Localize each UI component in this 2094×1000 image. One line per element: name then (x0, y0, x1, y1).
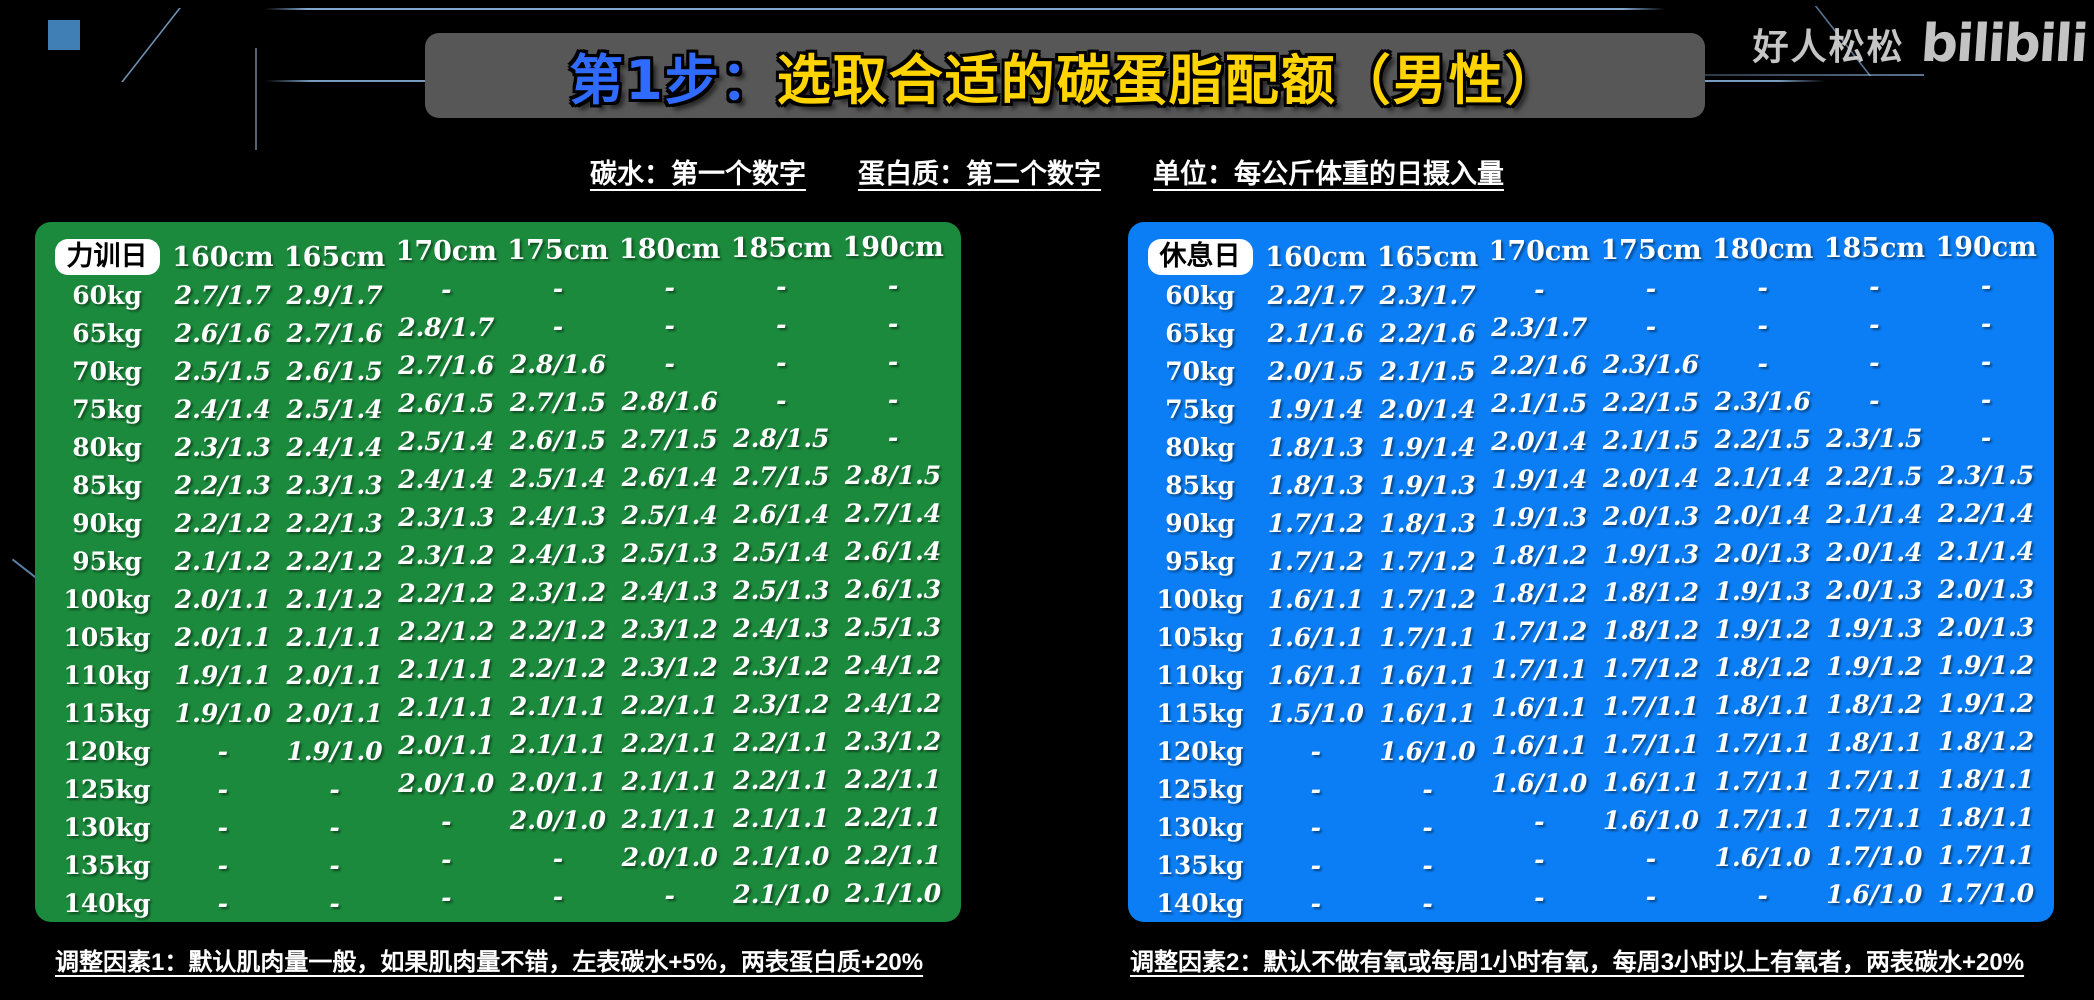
row-header-weight: 60kg (1140, 276, 1260, 314)
table-cell: - (837, 266, 949, 304)
table-cell: 1.8/1.2 (1930, 722, 2042, 760)
table-cell: 2.3/1.3 (390, 498, 502, 536)
table-cell: 2.4/1.3 (502, 535, 614, 573)
table-cell: - (1819, 267, 1931, 305)
row-header-weight: 135kg (47, 846, 167, 884)
table-cell: 2.7/1.5 (614, 420, 726, 458)
table-cell: 1.9/1.3 (1707, 572, 1819, 610)
table-cell: 2.8/1.6 (614, 382, 726, 420)
footnote-adjustment-2: 调整因素2：默认不做有氧或每周1小时有氧，每周3小时以上有氧者，两表碳水+20% (1130, 942, 2024, 977)
table-cell: 2.0/1.1 (502, 763, 614, 801)
table-cell: 2.2/1.2 (390, 612, 502, 650)
table-cell: 2.7/1.5 (502, 383, 614, 421)
table-cell: - (390, 878, 502, 916)
table-cell: 2.2/1.3 (279, 504, 391, 542)
row-header-weight: 130kg (1140, 808, 1260, 846)
table-cell: - (1372, 846, 1484, 884)
row-header-weight: 65kg (1140, 314, 1260, 352)
row-header-weight: 80kg (47, 428, 167, 466)
table-cell: - (1483, 270, 1595, 308)
table-cell: 2.3/1.5 (1819, 419, 1931, 457)
table-cell: 1.6/1.1 (1483, 688, 1595, 726)
table-cell: 2.6/1.4 (726, 495, 838, 533)
table-cell: 2.0/1.4 (1483, 422, 1595, 460)
table-cell: - (390, 840, 502, 878)
title-step: 第1步： (569, 49, 777, 112)
row-header-weight: 95kg (1140, 542, 1260, 580)
table-cell: - (1707, 344, 1819, 382)
table-cell: 2.2/1.6 (1483, 346, 1595, 384)
training-day-panel: 力训日 160cm 165cm 170cm 175cm 180cm 185cm … (35, 222, 961, 922)
row-header-weight: 120kg (47, 732, 167, 770)
training-day-body: 60kg2.7/1.72.9/1.7-----65kg2.6/1.62.7/1.… (47, 276, 949, 922)
col-header-170cm: 170cm (1483, 232, 1595, 270)
table-cell: - (279, 770, 391, 808)
table-cell: - (167, 846, 279, 884)
table-cell: 1.7/1.0 (1930, 874, 2042, 912)
table-cell: - (1930, 266, 2042, 304)
legend-unit: 单位：每公斤体重的日摄入量 (1153, 152, 1504, 191)
footnote-adjustment-1: 调整因素1：默认肌肉量一般，如果肌肉量不错，左表碳水+5%，两表蛋白质+20% (55, 942, 923, 977)
table-cell: 1.9/1.2 (1707, 610, 1819, 648)
table-cell: 2.1/1.1 (390, 688, 502, 726)
row-header-weight: 110kg (47, 656, 167, 694)
table-cell: 1.8/1.2 (1483, 574, 1595, 612)
table-cell: 2.2/1.1 (726, 761, 838, 799)
table-cell: 2.1/1.4 (1819, 495, 1931, 533)
table-cell: 2.1/1.2 (279, 580, 391, 618)
table-cell: 2.5/1.4 (279, 390, 391, 428)
table-cell: 1.7/1.1 (1930, 836, 2042, 874)
table-cell: - (167, 884, 279, 922)
table-cell: 2.4/1.2 (837, 684, 949, 722)
table-cell: 1.7/1.1 (1372, 618, 1484, 656)
row-header-weight: 130kg (47, 808, 167, 846)
row-header-weight: 115kg (1140, 694, 1260, 732)
training-day-table: 力训日 160cm 165cm 170cm 175cm 180cm 185cm … (47, 238, 949, 922)
table-cell: 1.9/1.3 (1819, 609, 1931, 647)
table-cell: 2.0/1.0 (614, 838, 726, 876)
table-cell: 1.8/1.2 (1819, 685, 1931, 723)
table-cell: 2.3/1.2 (837, 722, 949, 760)
table-cell: 2.0/1.4 (1819, 533, 1931, 571)
bilibili-logo-icon: bilibili (1919, 14, 2089, 74)
col-header-170cm: 170cm (390, 232, 502, 270)
table-cell: - (167, 808, 279, 846)
table-cell: - (614, 268, 726, 306)
title-body: 选取合适的碳蛋脂配额（男性） (777, 49, 1561, 112)
table-cell: - (279, 884, 391, 922)
table-cell: 2.5/1.3 (614, 534, 726, 572)
row-header-weight: 120kg (1140, 732, 1260, 770)
table-cell: 1.7/1.2 (1372, 580, 1484, 618)
table-cell: 1.7/1.1 (1707, 724, 1819, 762)
table-cell: 1.9/1.2 (1819, 647, 1931, 685)
row-header-weight: 140kg (1140, 884, 1260, 922)
table-cell: 1.8/1.1 (1930, 798, 2042, 836)
table-cell: 2.7/1.6 (279, 314, 391, 352)
col-header-180cm: 180cm (614, 230, 726, 268)
table-cell: 1.9/1.2 (1930, 684, 2042, 722)
table-cell: 1.7/1.1 (1819, 799, 1931, 837)
table-cell: 2.2/1.6 (1372, 314, 1484, 352)
table-cell: 1.6/1.1 (1372, 656, 1484, 694)
row-header-weight: 100kg (1140, 580, 1260, 618)
table-cell: 2.0/1.3 (1930, 570, 2042, 608)
table-cell: 2.8/1.6 (502, 345, 614, 383)
table-cell: 2.7/1.7 (167, 276, 279, 314)
row-header-weight: 125kg (1140, 770, 1260, 808)
table-cell: 2.1/1.1 (726, 799, 838, 837)
table-cell: 1.8/1.1 (1819, 723, 1931, 761)
col-header-175cm: 175cm (1595, 231, 1707, 269)
table-cell: 1.9/1.3 (1595, 535, 1707, 573)
table-cell: 2.2/1.4 (1930, 494, 2042, 532)
table-cell: 2.5/1.4 (502, 459, 614, 497)
table-cell: 2.6/1.5 (279, 352, 391, 390)
table-cell: - (167, 770, 279, 808)
table-cell: - (1930, 342, 2042, 380)
table-cell: - (279, 846, 391, 884)
table-cell: 2.8/1.5 (726, 419, 838, 457)
col-header-165cm: 165cm (279, 238, 391, 276)
table-cell: - (1260, 846, 1372, 884)
table-cell: 2.0/1.3 (1930, 608, 2042, 646)
table-cell: - (279, 808, 391, 846)
table-cell: 2.3/1.5 (1930, 456, 2042, 494)
row-header-weight: 70kg (47, 352, 167, 390)
table-cell: 1.6/1.1 (1260, 656, 1372, 694)
table-cell: 2.7/1.6 (390, 346, 502, 384)
table-cell: 1.6/1.0 (1819, 875, 1931, 913)
table-cell: 2.2/1.1 (726, 723, 838, 761)
row-header-weight: 70kg (1140, 352, 1260, 390)
table-cell: 1.8/1.3 (1372, 504, 1484, 542)
table-cell: 2.3/1.6 (1707, 382, 1819, 420)
row-header-weight: 75kg (1140, 390, 1260, 428)
table-cell: 1.8/1.3 (1260, 466, 1372, 504)
table-cell: 2.1/1.1 (502, 687, 614, 725)
table-cell: 1.6/1.0 (1707, 838, 1819, 876)
table-cell: 2.2/1.5 (1707, 420, 1819, 458)
table-cell: - (502, 307, 614, 345)
table-cell: 2.3/1.2 (502, 573, 614, 611)
table-cell: - (1819, 305, 1931, 343)
table-cell: 2.0/1.0 (502, 801, 614, 839)
table-cell: 2.4/1.4 (167, 390, 279, 428)
rest-day-body: 60kg2.2/1.72.3/1.7-----65kg2.1/1.62.2/1.… (1140, 276, 2042, 922)
table-cell: 2.0/1.1 (279, 656, 391, 694)
training-day-badge: 力训日 (47, 238, 167, 276)
row-header-weight: 100kg (47, 580, 167, 618)
table-cell: 2.6/1.3 (837, 570, 949, 608)
table-cell: 1.7/1.2 (1260, 542, 1372, 580)
table-cell: 2.1/1.0 (726, 875, 838, 913)
table-cell: 1.9/1.3 (1372, 466, 1484, 504)
table-cell: - (837, 342, 949, 380)
table-cell: 1.6/1.0 (1372, 732, 1484, 770)
table-cell: - (837, 380, 949, 418)
col-header-190cm: 190cm (837, 228, 949, 266)
table-cell: 1.8/1.1 (1930, 760, 2042, 798)
table-cell: - (1483, 840, 1595, 878)
table-cell: - (1372, 884, 1484, 922)
table-cell: 2.1/1.5 (1483, 384, 1595, 422)
table-cell: 2.2/1.1 (614, 686, 726, 724)
table-cell: 2.5/1.3 (837, 608, 949, 646)
training-day-label: 力训日 (55, 239, 160, 275)
table-cell: 1.6/1.0 (1595, 801, 1707, 839)
table-cell: 1.7/1.2 (1483, 612, 1595, 650)
table-cell: 2.4/1.4 (390, 460, 502, 498)
col-header-175cm: 175cm (502, 231, 614, 269)
table-cell: 2.8/1.5 (837, 456, 949, 494)
slide-root: 好人松松 bilibili 第1步：选取合适的碳蛋脂配额（男性） 碳水：第一个数… (0, 0, 2094, 1000)
table-cell: 2.2/1.2 (502, 611, 614, 649)
watermark: 好人松松 bilibili (1753, 14, 2086, 74)
row-header-weight: 110kg (1140, 656, 1260, 694)
table-cell: - (614, 306, 726, 344)
table-cell: 1.9/1.0 (279, 732, 391, 770)
table-cell: 2.3/1.6 (1595, 345, 1707, 383)
table-row: 140kg-----2.1/1.02.1/1.0 (47, 884, 949, 922)
table-cell: 2.5/1.4 (726, 533, 838, 571)
row-header-weight: 140kg (47, 884, 167, 922)
table-cell: 2.0/1.1 (390, 726, 502, 764)
table-cell: 1.7/1.1 (1707, 762, 1819, 800)
table-cell: 1.6/1.1 (1595, 763, 1707, 801)
table-cell: 2.6/1.5 (390, 384, 502, 422)
table-row: 140kg-----1.6/1.01.7/1.0 (1140, 884, 2042, 922)
row-header-weight: 105kg (1140, 618, 1260, 656)
table-cell: 2.1/1.4 (1930, 532, 2042, 570)
row-header-weight: 60kg (47, 276, 167, 314)
page-title: 第1步：选取合适的碳蛋脂配额（男性） (569, 36, 1561, 115)
table-cell: 1.6/1.1 (1260, 580, 1372, 618)
table-cell: 2.6/1.4 (614, 458, 726, 496)
table-cell: - (726, 381, 838, 419)
table-cell: 2.2/1.2 (390, 574, 502, 612)
row-header-weight: 85kg (1140, 466, 1260, 504)
table-cell: 2.5/1.4 (614, 496, 726, 534)
legend-row: 碳水：第一个数字 蛋白质：第二个数字 单位：每公斤体重的日摄入量 (0, 152, 2094, 191)
col-header-165cm: 165cm (1372, 238, 1484, 276)
table-cell: - (390, 270, 502, 308)
rest-day-label: 休息日 (1148, 239, 1253, 275)
col-header-185cm: 185cm (726, 229, 838, 267)
table-cell: 1.7/1.1 (1595, 725, 1707, 763)
table-cell: - (837, 304, 949, 342)
col-header-180cm: 180cm (1707, 230, 1819, 268)
table-cell: 2.2/1.1 (837, 798, 949, 836)
table-cell: - (1372, 770, 1484, 808)
table-cell: 2.7/1.5 (726, 457, 838, 495)
table-cell: - (502, 839, 614, 877)
table-cell: 1.8/1.2 (1707, 648, 1819, 686)
table-cell: - (1707, 306, 1819, 344)
table-cell: 2.3/1.2 (390, 536, 502, 574)
table-cell: 2.0/1.4 (1595, 459, 1707, 497)
table-cell: - (1595, 307, 1707, 345)
table-cell: - (1483, 802, 1595, 840)
table-cell: 2.0/1.1 (167, 618, 279, 656)
table-cell: 2.4/1.4 (279, 428, 391, 466)
table-cell: 2.2/1.2 (167, 504, 279, 542)
table-cell: 2.1/1.1 (502, 725, 614, 763)
table-cell: 2.2/1.1 (837, 836, 949, 874)
table-cell: - (614, 344, 726, 382)
hud-top-line-1 (265, 8, 1665, 10)
col-header-190cm: 190cm (1930, 228, 2042, 266)
table-cell: 1.6/1.1 (1260, 618, 1372, 656)
row-header-weight: 95kg (47, 542, 167, 580)
table-cell: 2.3/1.3 (279, 466, 391, 504)
table-cell: 2.7/1.4 (837, 494, 949, 532)
table-cell: 2.2/1.1 (614, 724, 726, 762)
table-cell: - (1819, 343, 1931, 381)
table-cell: 2.4/1.3 (726, 609, 838, 647)
table-cell: 2.2/1.2 (502, 649, 614, 687)
rest-day-panel: 休息日 160cm 165cm 170cm 175cm 180cm 185cm … (1128, 222, 2054, 922)
table-cell: 2.5/1.5 (167, 352, 279, 390)
table-cell: 2.3/1.3 (167, 428, 279, 466)
table-cell: - (614, 876, 726, 914)
col-header-160cm: 160cm (167, 238, 279, 276)
table-cell: 1.9/1.4 (1260, 390, 1372, 428)
table-cell: 2.1/1.1 (614, 762, 726, 800)
table-cell: - (1930, 304, 2042, 342)
row-header-weight: 75kg (47, 390, 167, 428)
table-cell: 2.1/1.0 (837, 874, 949, 912)
table-cell: - (837, 418, 949, 456)
table-cell: 2.0/1.3 (1819, 571, 1931, 609)
title-banner: 第1步：选取合适的碳蛋脂配额（男性） (425, 33, 1705, 118)
table-cell: - (1260, 808, 1372, 846)
table-cell: 1.9/1.4 (1483, 460, 1595, 498)
table-cell: 1.6/1.0 (1483, 764, 1595, 802)
table-cell: 2.0/1.3 (1595, 497, 1707, 535)
rest-day-table: 休息日 160cm 165cm 170cm 175cm 180cm 185cm … (1140, 238, 2042, 922)
table-cell: - (1930, 418, 2042, 456)
table-cell: - (1372, 808, 1484, 846)
table-cell: - (1819, 381, 1931, 419)
row-header-weight: 65kg (47, 314, 167, 352)
row-header-weight: 80kg (1140, 428, 1260, 466)
col-header-160cm: 160cm (1260, 238, 1372, 276)
table-cell: 2.8/1.7 (390, 308, 502, 346)
hud-square-decoration (48, 20, 80, 50)
table-cell: 2.0/1.4 (1707, 496, 1819, 534)
table-cell: 1.8/1.3 (1260, 428, 1372, 466)
table-cell: - (726, 343, 838, 381)
table-cell: 2.0/1.3 (1707, 534, 1819, 572)
table-cell: 2.3/1.2 (614, 610, 726, 648)
table-cell: 1.9/1.0 (167, 694, 279, 732)
table-cell: 2.0/1.0 (390, 764, 502, 802)
table-cell: 1.7/1.1 (1707, 800, 1819, 838)
table-cell: 1.6/1.1 (1483, 726, 1595, 764)
table-cell: 1.9/1.2 (1930, 646, 2042, 684)
col-header-185cm: 185cm (1819, 229, 1931, 267)
table-cell: 2.3/1.7 (1483, 308, 1595, 346)
table-cell: 1.7/1.1 (1483, 650, 1595, 688)
table-cell: - (1707, 268, 1819, 306)
table-cell: 2.1/1.0 (726, 837, 838, 875)
table-cell: 2.2/1.7 (1260, 276, 1372, 314)
table-cell: - (726, 267, 838, 305)
table-cell: 2.5/1.3 (726, 571, 838, 609)
hud-diagonal-left (121, 8, 299, 82)
row-header-weight: 115kg (47, 694, 167, 732)
rest-day-badge: 休息日 (1140, 238, 1260, 276)
table-cell: 2.1/1.1 (390, 650, 502, 688)
table-cell: 2.3/1.2 (614, 648, 726, 686)
table-cell: - (1260, 732, 1372, 770)
table-cell: 2.5/1.4 (390, 422, 502, 460)
row-header-weight: 105kg (47, 618, 167, 656)
table-cell: - (167, 732, 279, 770)
table-cell: 2.1/1.1 (614, 800, 726, 838)
table-cell: 2.2/1.5 (1819, 457, 1931, 495)
table-cell: - (1707, 876, 1819, 914)
table-cell: 2.0/1.1 (167, 580, 279, 618)
table-cell: 2.0/1.1 (279, 694, 391, 732)
table-cell: 2.1/1.6 (1260, 314, 1372, 352)
table-cell: 2.2/1.5 (1595, 383, 1707, 421)
table-cell: - (1595, 269, 1707, 307)
legend-carbs: 碳水：第一个数字 (590, 152, 806, 191)
table-cell: - (502, 269, 614, 307)
table-cell: 2.6/1.6 (167, 314, 279, 352)
table-cell: - (502, 877, 614, 915)
table-cell: 2.9/1.7 (279, 276, 391, 314)
table-cell: 1.7/1.1 (1819, 761, 1931, 799)
table-cell: - (1260, 770, 1372, 808)
table-cell: 1.5/1.0 (1260, 694, 1372, 732)
table-cell: 2.2/1.1 (837, 760, 949, 798)
table-cell: - (726, 305, 838, 343)
table-cell: 1.9/1.3 (1483, 498, 1595, 536)
table-cell: 2.4/1.3 (502, 497, 614, 535)
hud-tick-marks (255, 48, 265, 82)
table-cell: 1.7/1.2 (1372, 542, 1484, 580)
table-cell: - (1930, 380, 2042, 418)
table-cell: 2.6/1.5 (502, 421, 614, 459)
row-header-weight: 90kg (1140, 504, 1260, 542)
table-cell: 1.9/1.4 (1372, 428, 1484, 466)
table-cell: 1.6/1.1 (1372, 694, 1484, 732)
table-cell: 2.3/1.2 (726, 685, 838, 723)
table-cell: 2.0/1.5 (1260, 352, 1372, 390)
table-cell: 2.1/1.5 (1372, 352, 1484, 390)
table-cell: 2.2/1.3 (167, 466, 279, 504)
table-cell: 1.8/1.1 (1707, 686, 1819, 724)
table-cell: - (1260, 884, 1372, 922)
table-cell: 1.7/1.2 (1260, 504, 1372, 542)
table-cell: 2.2/1.2 (279, 542, 391, 580)
table-cell: 2.3/1.7 (1372, 276, 1484, 314)
table-cell: - (1595, 839, 1707, 877)
table-cell: 2.1/1.5 (1595, 421, 1707, 459)
table-cell: 1.7/1.0 (1819, 837, 1931, 875)
row-header-weight: 90kg (47, 504, 167, 542)
table-cell: 2.4/1.2 (837, 646, 949, 684)
table-cell: 1.8/1.2 (1595, 611, 1707, 649)
table-cell: 1.7/1.1 (1595, 687, 1707, 725)
table-cell: 2.3/1.2 (726, 647, 838, 685)
table-cell: - (1595, 877, 1707, 915)
table-cell: 1.8/1.2 (1595, 573, 1707, 611)
